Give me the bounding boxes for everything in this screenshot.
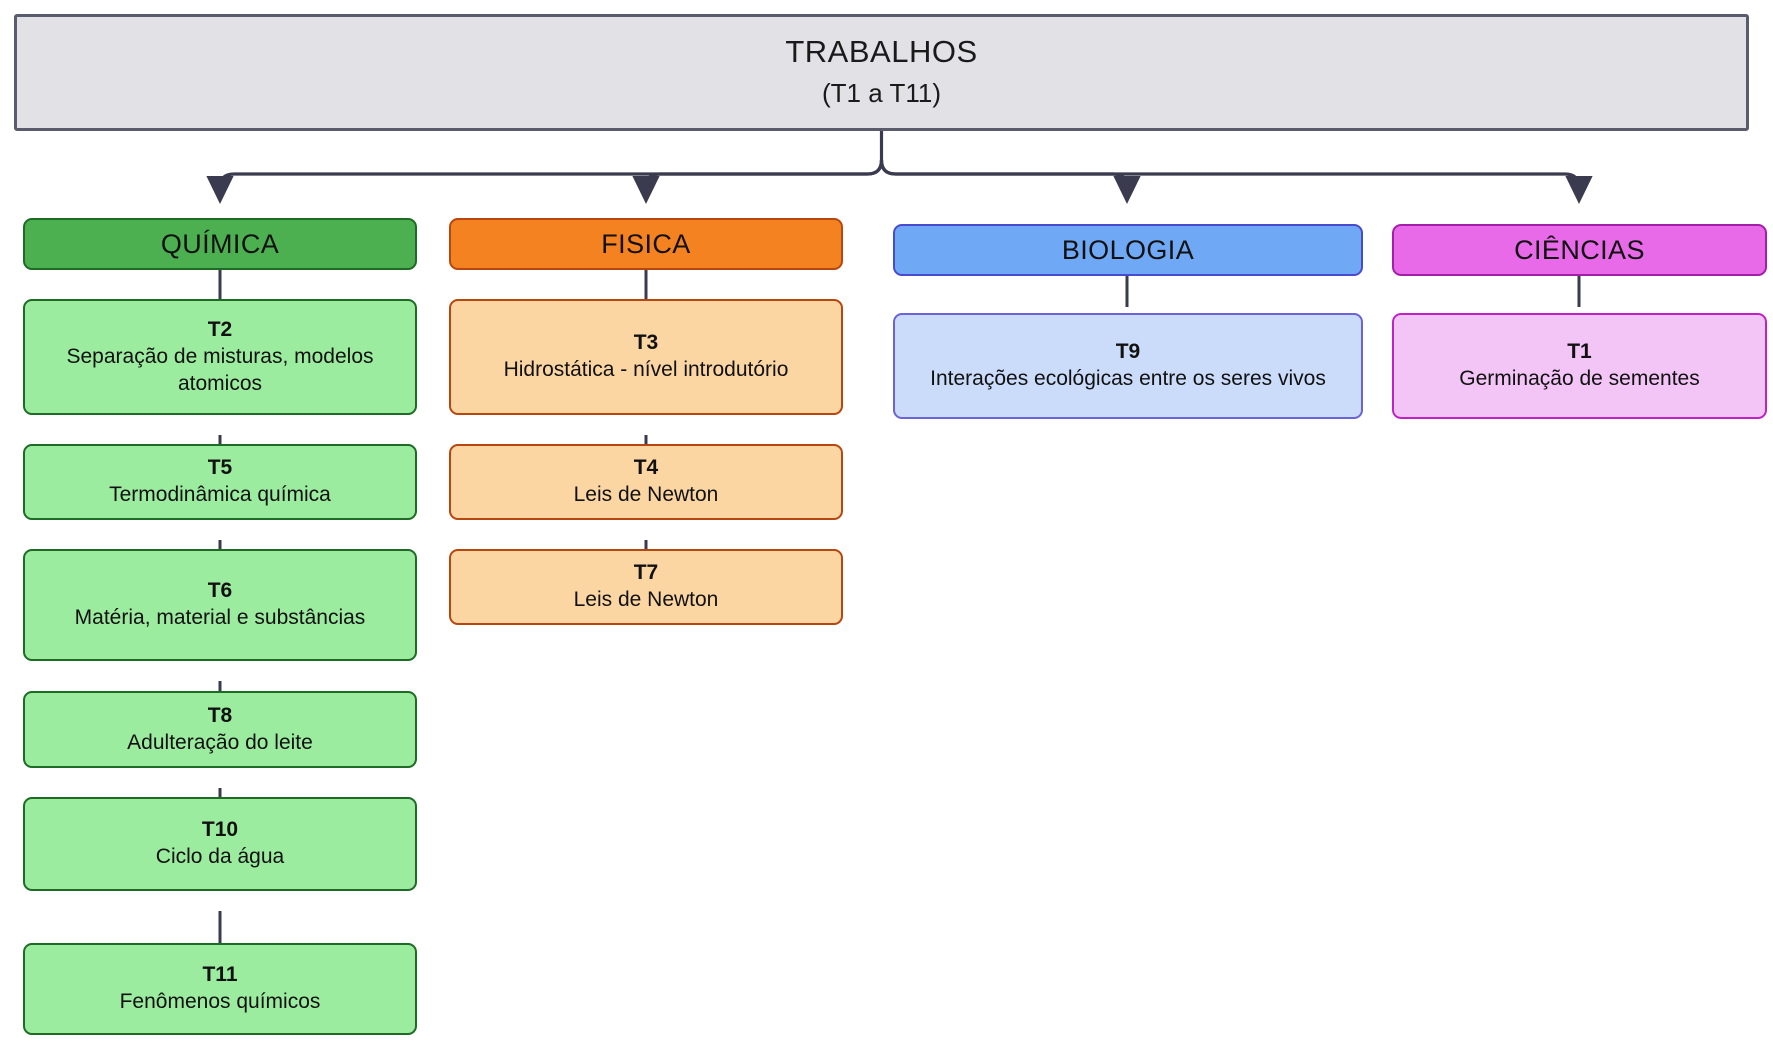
node-t9[interactable]: T9 Interações ecológicas entre os seres … — [893, 313, 1363, 419]
node-code: T1 — [1567, 339, 1592, 365]
node-code: T7 — [634, 560, 659, 586]
node-desc: Adulteração do leite — [127, 729, 313, 756]
node-code: T10 — [202, 817, 238, 843]
node-t10[interactable]: T10 Ciclo da água — [23, 797, 417, 891]
node-code: T4 — [634, 455, 659, 481]
category-label: FISICA — [601, 229, 690, 260]
node-t1[interactable]: T1 Germinação de sementes — [1392, 313, 1767, 419]
column-biologia: BIOLOGIA T9 Interações ecológicas entre … — [893, 224, 1363, 419]
node-code: T11 — [202, 962, 237, 988]
root-subtitle: (T1 a T11) — [822, 75, 941, 111]
node-desc: Termodinâmica química — [109, 481, 331, 508]
column-ciencias: CIÊNCIAS T1 Germinação de sementes — [1392, 224, 1767, 419]
category-label: BIOLOGIA — [1062, 235, 1194, 266]
node-desc: Fenômenos químicos — [120, 988, 321, 1015]
category-header-quimica[interactable]: QUÍMICA — [23, 218, 417, 270]
category-label: QUÍMICA — [161, 229, 279, 260]
node-code: T6 — [208, 578, 233, 604]
node-desc: Interações ecológicas entre os seres viv… — [930, 365, 1326, 392]
diagram-canvas: TRABALHOS (T1 a T11) QUÍMICA T2 Separaçã… — [0, 0, 1773, 1064]
category-label: CIÊNCIAS — [1514, 235, 1645, 266]
category-header-ciencias[interactable]: CIÊNCIAS — [1392, 224, 1767, 276]
node-t4[interactable]: T4 Leis de Newton — [449, 444, 843, 520]
root-title: TRABALHOS — [785, 34, 977, 71]
node-desc: Separação de misturas, modelos atomicos — [37, 343, 403, 398]
node-t7[interactable]: T7 Leis de Newton — [449, 549, 843, 625]
root-node: TRABALHOS (T1 a T11) — [14, 14, 1749, 131]
node-code: T5 — [208, 455, 233, 481]
node-desc: Matéria, material e substâncias — [75, 604, 366, 631]
node-t8[interactable]: T8 Adulteração do leite — [23, 691, 417, 768]
node-code: T2 — [208, 317, 233, 343]
node-desc: Hidrostática - nível introdutório — [504, 356, 789, 383]
node-desc: Ciclo da água — [156, 843, 284, 870]
node-code: T8 — [208, 703, 233, 729]
node-desc: Leis de Newton — [574, 481, 719, 508]
node-t2[interactable]: T2 Separação de misturas, modelos atomic… — [23, 299, 417, 415]
node-t3[interactable]: T3 Hidrostática - nível introdutório — [449, 299, 843, 415]
column-quimica: QUÍMICA T2 Separação de misturas, modelo… — [23, 218, 417, 1035]
node-t6[interactable]: T6 Matéria, material e substâncias — [23, 549, 417, 661]
column-fisica: FISICA T3 Hidrostática - nível introdutó… — [449, 218, 843, 625]
node-t5[interactable]: T5 Termodinâmica química — [23, 444, 417, 520]
node-desc: Leis de Newton — [574, 586, 719, 613]
node-code: T9 — [1116, 339, 1141, 365]
category-header-fisica[interactable]: FISICA — [449, 218, 843, 270]
category-header-biologia[interactable]: BIOLOGIA — [893, 224, 1363, 276]
node-desc: Germinação de sementes — [1459, 365, 1699, 392]
node-t11[interactable]: T11 Fenômenos químicos — [23, 943, 417, 1035]
node-code: T3 — [634, 330, 659, 356]
